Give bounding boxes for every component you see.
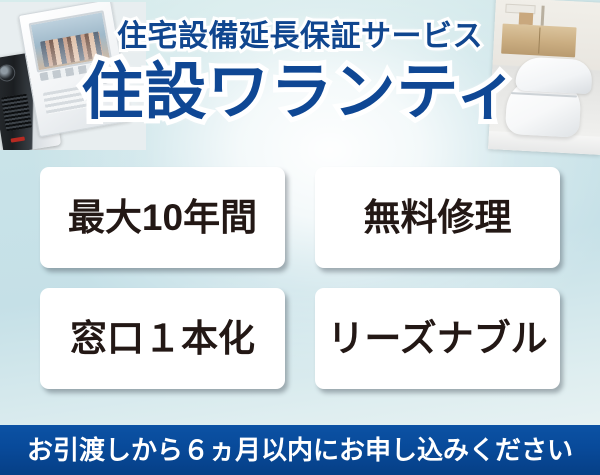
feature-card-free-repair[interactable]: 無料修理 [315, 167, 560, 268]
call-button [11, 137, 25, 143]
service-subtitle: 住宅設備延長保証サービス [0, 22, 600, 52]
promotional-banner: 住宅設備延長保証サービス 住設ワランティ 最大10年間 無料修理 窓口１本化 リ… [0, 0, 600, 475]
feature-card-single-contact[interactable]: 窓口１本化 [40, 288, 285, 389]
feature-label: リーズナブル [327, 320, 547, 357]
call-to-action-bar[interactable]: お引渡しから６ヵ月以内にお申し込みください [0, 425, 600, 475]
feature-label: 無料修理 [364, 199, 512, 236]
feature-card-reasonable[interactable]: リーズナブル [315, 288, 560, 389]
feature-label: 窓口１本化 [70, 320, 255, 357]
feature-card-max-10-years[interactable]: 最大10年間 [40, 167, 285, 268]
feature-card-grid: 最大10年間 無料修理 窓口１本化 リーズナブル [40, 167, 560, 389]
feature-label: 最大10年間 [68, 199, 257, 236]
page-title: 住設ワランティ [0, 62, 600, 124]
call-to-action-text: お引渡しから６ヵ月以内にお申し込みください [27, 437, 573, 463]
